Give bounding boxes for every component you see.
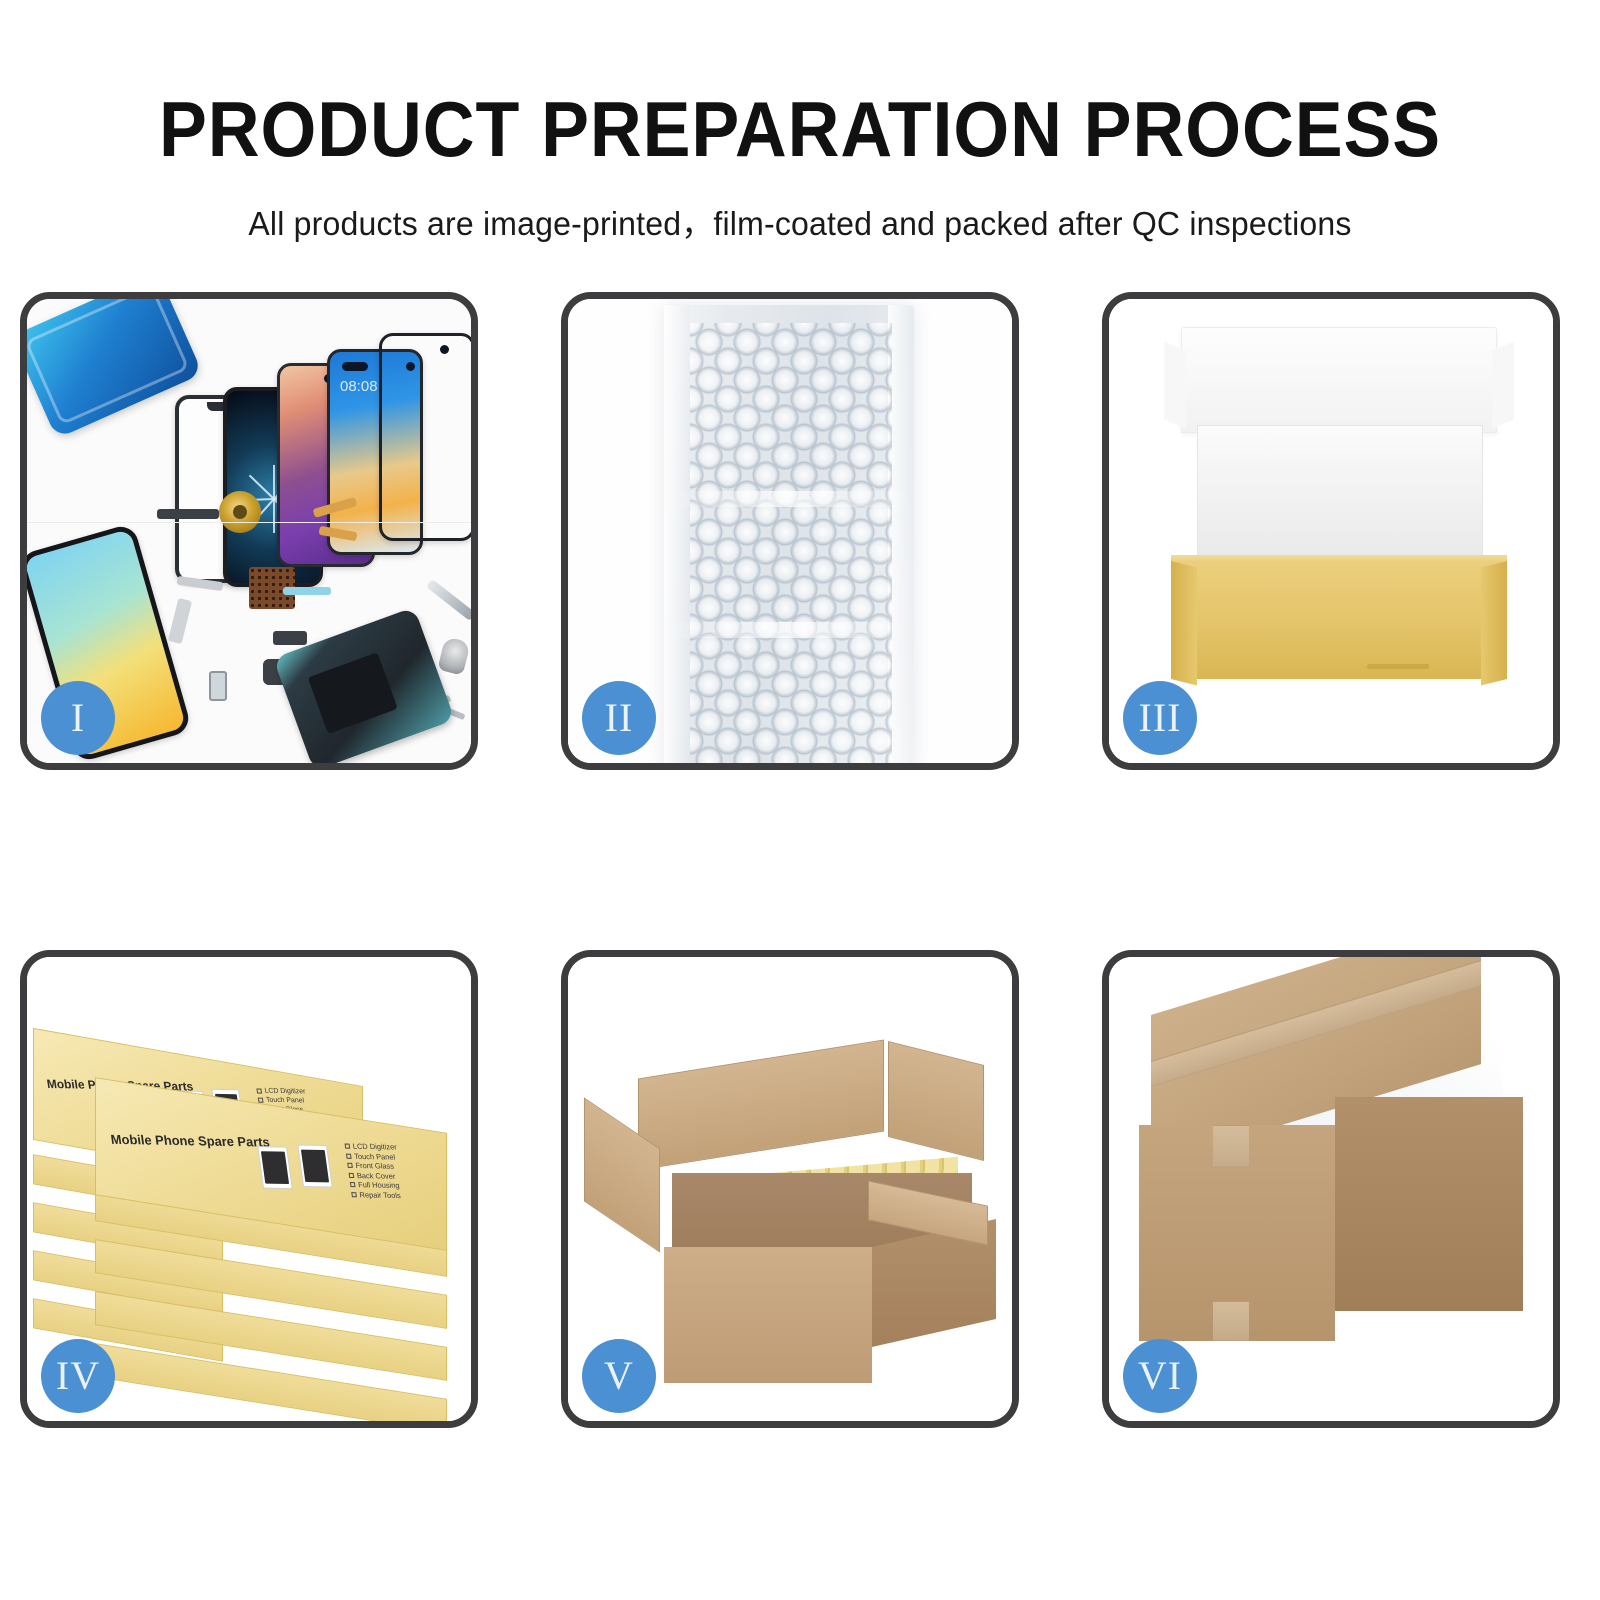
bubble-grid [690,323,892,763]
page-subtitle: All products are image-printed，film-coat… [24,197,1576,245]
step-badge-5: V [582,1339,656,1413]
product-preparation-infographic: PRODUCT PREPARATION PROCESS All products… [0,0,1600,1600]
wireless-charging-coil-part [219,491,261,533]
vibration-motor-part [273,631,307,645]
panel-step-6: VI [1102,950,1560,1428]
step-badge-1: I [41,681,115,755]
sealed-carton-right-face [1335,1097,1523,1311]
panel-step-3: III [1102,292,1560,770]
packing-tape-tab-upper [1213,1125,1249,1167]
step-badge-6: VI [1123,1339,1197,1413]
panel-step-5: V [561,950,1019,1428]
mailer-lid-inner [1197,425,1483,565]
phone-clock-text: 08:08 [340,378,378,395]
mailer-box-tab [1367,664,1429,669]
box-phone-thumb [297,1144,333,1187]
flex-cable-part-5 [168,598,192,644]
header: PRODUCT PREPARATION PROCESS All products… [0,0,1600,245]
retail-box-title-front: Mobile Phone Spare Parts [110,1132,271,1150]
sealed-carton-front-face [1139,1125,1335,1341]
cleaning-brush [437,636,470,675]
box-phone-thumb [257,1146,293,1189]
pry-tool [426,579,471,621]
packing-tape-top [1151,960,1481,1087]
step-badge-4: IV [41,1339,115,1413]
panel-step-1: 08:08 [20,292,478,770]
speaker-mesh-part [157,509,219,519]
panel-step-4: Mobile Phone Spare Parts LCD Digitizer T… [20,950,478,1428]
panel-step-2: II [561,292,1019,770]
step-badge-2: II [582,681,656,755]
flex-cable-part-3 [283,587,331,595]
process-grid: 08:08 [20,292,1580,1428]
step-badge-3: III [1123,681,1197,755]
phone-teal-display [379,333,471,541]
mailer-lid-flap [1181,327,1497,433]
bubble-wrap-package [664,305,914,763]
retail-box-checklist-front: LCD Digitizer Touch Panel Front Glass Ba… [344,1142,404,1201]
packing-tape-tab-lower [1213,1301,1249,1341]
carton-front-face [664,1247,872,1383]
sim-tray-part [209,671,227,701]
mailer-box-body [1171,561,1507,679]
carton-flap-right [888,1041,984,1161]
carton-flap-rear [638,1040,884,1171]
page-title: PRODUCT PREPARATION PROCESS [64,84,1536,175]
